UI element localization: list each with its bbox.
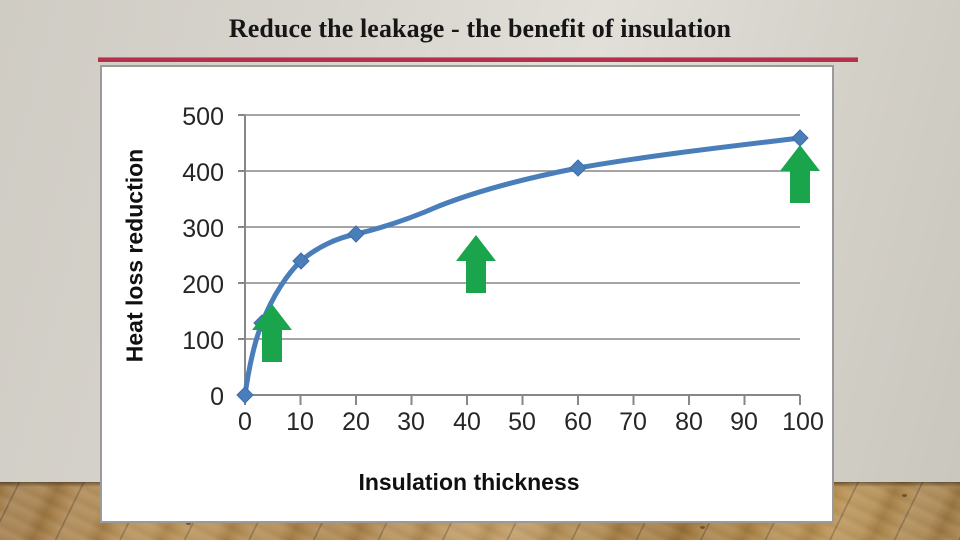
x-tick-label: 10: [270, 410, 330, 435]
chart-svg: [102, 67, 836, 525]
wood-knot: [902, 494, 907, 497]
title-divider-rule: [98, 57, 858, 62]
y-axis-ticks: [238, 115, 245, 395]
x-tick-label: 100: [773, 410, 833, 435]
chart-panel: Heat loss reduction 500 400 300 200 100 …: [100, 65, 834, 523]
x-axis-title: Insulation thickness: [102, 469, 836, 496]
x-axis-tick-labels: 0 10 20 30 40 50 60 70 80 90 100: [242, 410, 802, 444]
x-tick-label: 60: [548, 410, 608, 435]
chart-plot-area: Heat loss reduction 500 400 300 200 100 …: [102, 67, 836, 525]
x-tick-label: 50: [492, 410, 552, 435]
x-tick-label: 80: [659, 410, 719, 435]
data-point-0: [237, 387, 253, 403]
data-series-line: [245, 138, 800, 395]
wood-knot: [700, 526, 705, 529]
green-up-arrow: [780, 145, 820, 203]
x-tick-label: 20: [326, 410, 386, 435]
x-axis-ticks: [245, 395, 800, 405]
data-point-50: [570, 160, 586, 176]
x-tick-label: 70: [603, 410, 663, 435]
green-up-arrow: [456, 235, 496, 293]
x-tick-label: 0: [215, 410, 275, 435]
x-tick-label: 40: [437, 410, 497, 435]
data-point-20: [348, 226, 364, 242]
data-point-100: [792, 130, 808, 146]
x-tick-label: 30: [381, 410, 441, 435]
slide-title: Reduce the leakage - the benefit of insu…: [0, 14, 960, 44]
x-tick-label: 90: [714, 410, 774, 435]
slide-canvas: Reduce the leakage - the benefit of insu…: [0, 0, 960, 540]
